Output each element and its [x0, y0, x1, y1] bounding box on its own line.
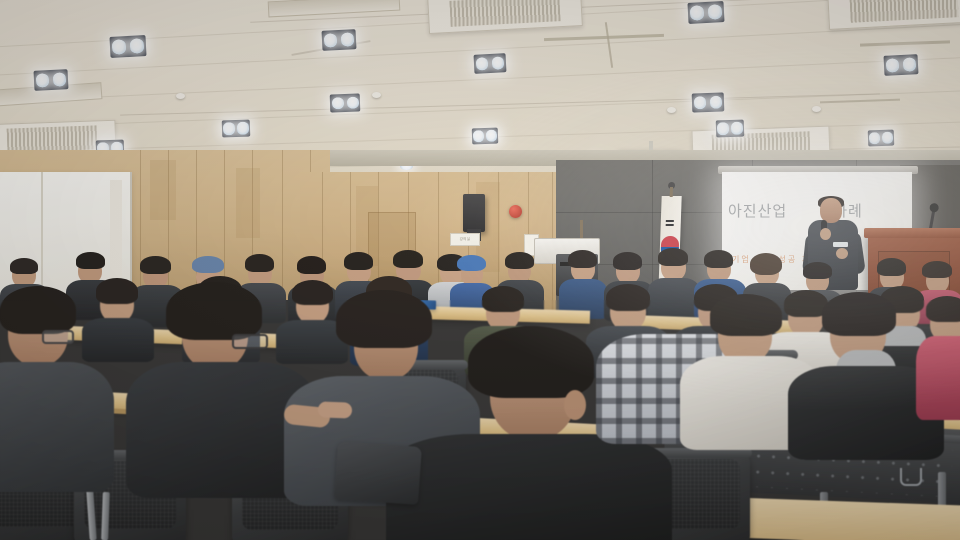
audience-member	[916, 296, 960, 416]
ceiling-downlight	[474, 53, 507, 74]
eyeglasses	[42, 330, 74, 344]
ceiling-downlight	[33, 69, 68, 91]
slide-title-left: 아진산업	[728, 202, 787, 220]
fire-alarm-icon	[509, 205, 522, 218]
ceiling-downlight	[222, 120, 251, 138]
wall-speaker-icon	[463, 194, 485, 232]
ceiling-sensor	[812, 106, 821, 112]
eyeglasses	[232, 334, 268, 349]
ceiling-downlight	[692, 92, 725, 112]
ear	[564, 390, 586, 420]
ceiling-sensor	[176, 93, 185, 99]
lecture-hall-photo: 강의실 아진산업사례 기업 혁신 성공 개요	[0, 0, 960, 540]
audience-member	[0, 286, 120, 486]
wall-sign: 강의실	[450, 233, 480, 246]
ceiling-downlight	[109, 35, 146, 58]
ceiling-downlight	[330, 93, 361, 112]
ceiling-downlight	[883, 54, 918, 76]
wall-sign-label: 강의실	[451, 234, 479, 245]
ceiling-sensor	[667, 107, 676, 113]
ceiling-downlight	[868, 130, 895, 147]
ceiling-sensor	[372, 92, 381, 98]
ceiling-downlight	[472, 128, 499, 145]
backpack	[334, 441, 422, 505]
hand	[318, 401, 353, 418]
ceiling-downlight	[321, 29, 356, 51]
desk-hook	[900, 468, 922, 486]
ceiling-downlight	[687, 1, 724, 24]
ceiling-downlight	[716, 120, 745, 138]
